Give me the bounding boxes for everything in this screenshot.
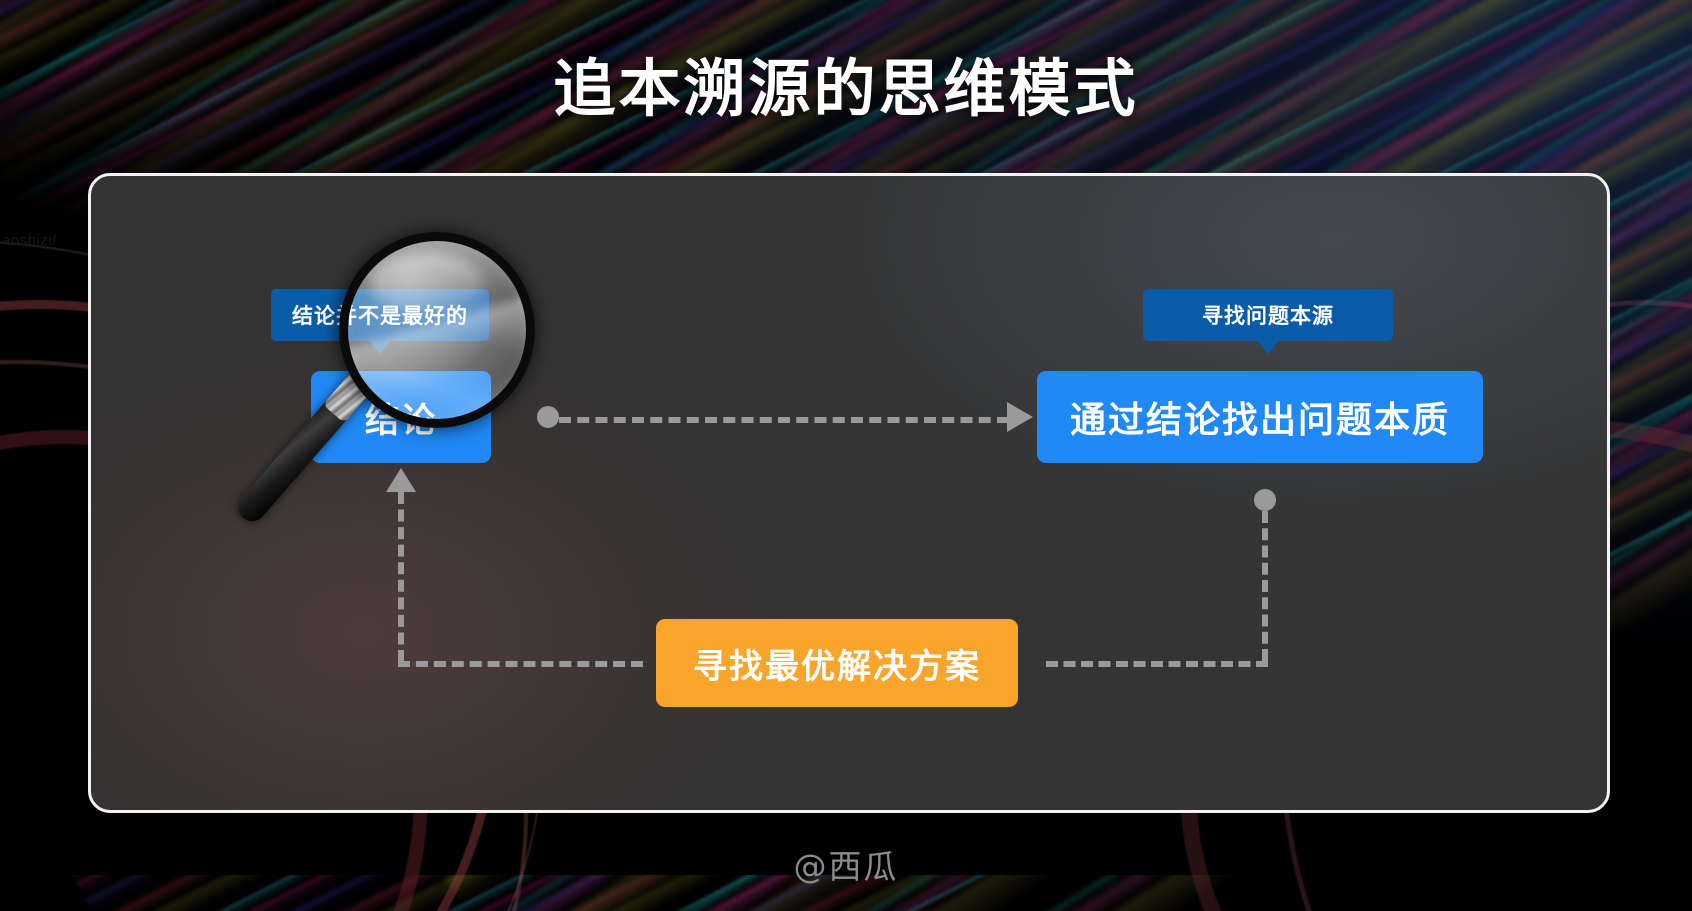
connector-line-essence-down	[1262, 511, 1268, 661]
node-essence-label: 通过结论找出问题本质	[1070, 391, 1450, 443]
tooltip-conclusion-label: 结论并不是最好的	[292, 300, 468, 330]
footer-watermark: @西瓜	[0, 840, 1692, 888]
arrow-up-icon	[386, 468, 416, 492]
node-conclusion-label: 结论	[365, 393, 437, 442]
arrow-right-icon	[1007, 402, 1033, 432]
connector-start-dot-conclusion	[537, 406, 559, 428]
node-conclusion[interactable]: 结论	[311, 371, 491, 463]
tooltip-conclusion[interactable]: 结论并不是最好的	[271, 289, 489, 341]
tooltip-root-cause[interactable]: 寻找问题本源	[1143, 289, 1393, 341]
node-solution-label: 寻找最优解决方案	[693, 639, 981, 688]
tooltip-root-cause-label: 寻找问题本源	[1202, 300, 1334, 330]
node-essence[interactable]: 通过结论找出问题本质	[1037, 371, 1483, 463]
connector-line-solution-to-conclusion	[398, 661, 643, 667]
connector-line-conclusion-to-essence	[559, 417, 1009, 423]
connector-line-essence-to-solution	[1046, 661, 1268, 667]
connector-line-solution-up	[398, 492, 404, 662]
edge-watermark: aoshizi/	[2, 232, 57, 249]
connector-start-dot-essence	[1254, 489, 1276, 511]
node-solution[interactable]: 寻找最优解决方案	[656, 619, 1018, 707]
slide-stage: aoshizi/ 追本溯源的思维模式 结论并不是最好的 寻找问题本源 结论 通过…	[0, 0, 1692, 911]
diagram-panel: 结论并不是最好的 寻找问题本源 结论 通过结论找出问题本质 寻找最优解决方案	[88, 173, 1610, 813]
page-title: 追本溯源的思维模式	[0, 38, 1692, 128]
